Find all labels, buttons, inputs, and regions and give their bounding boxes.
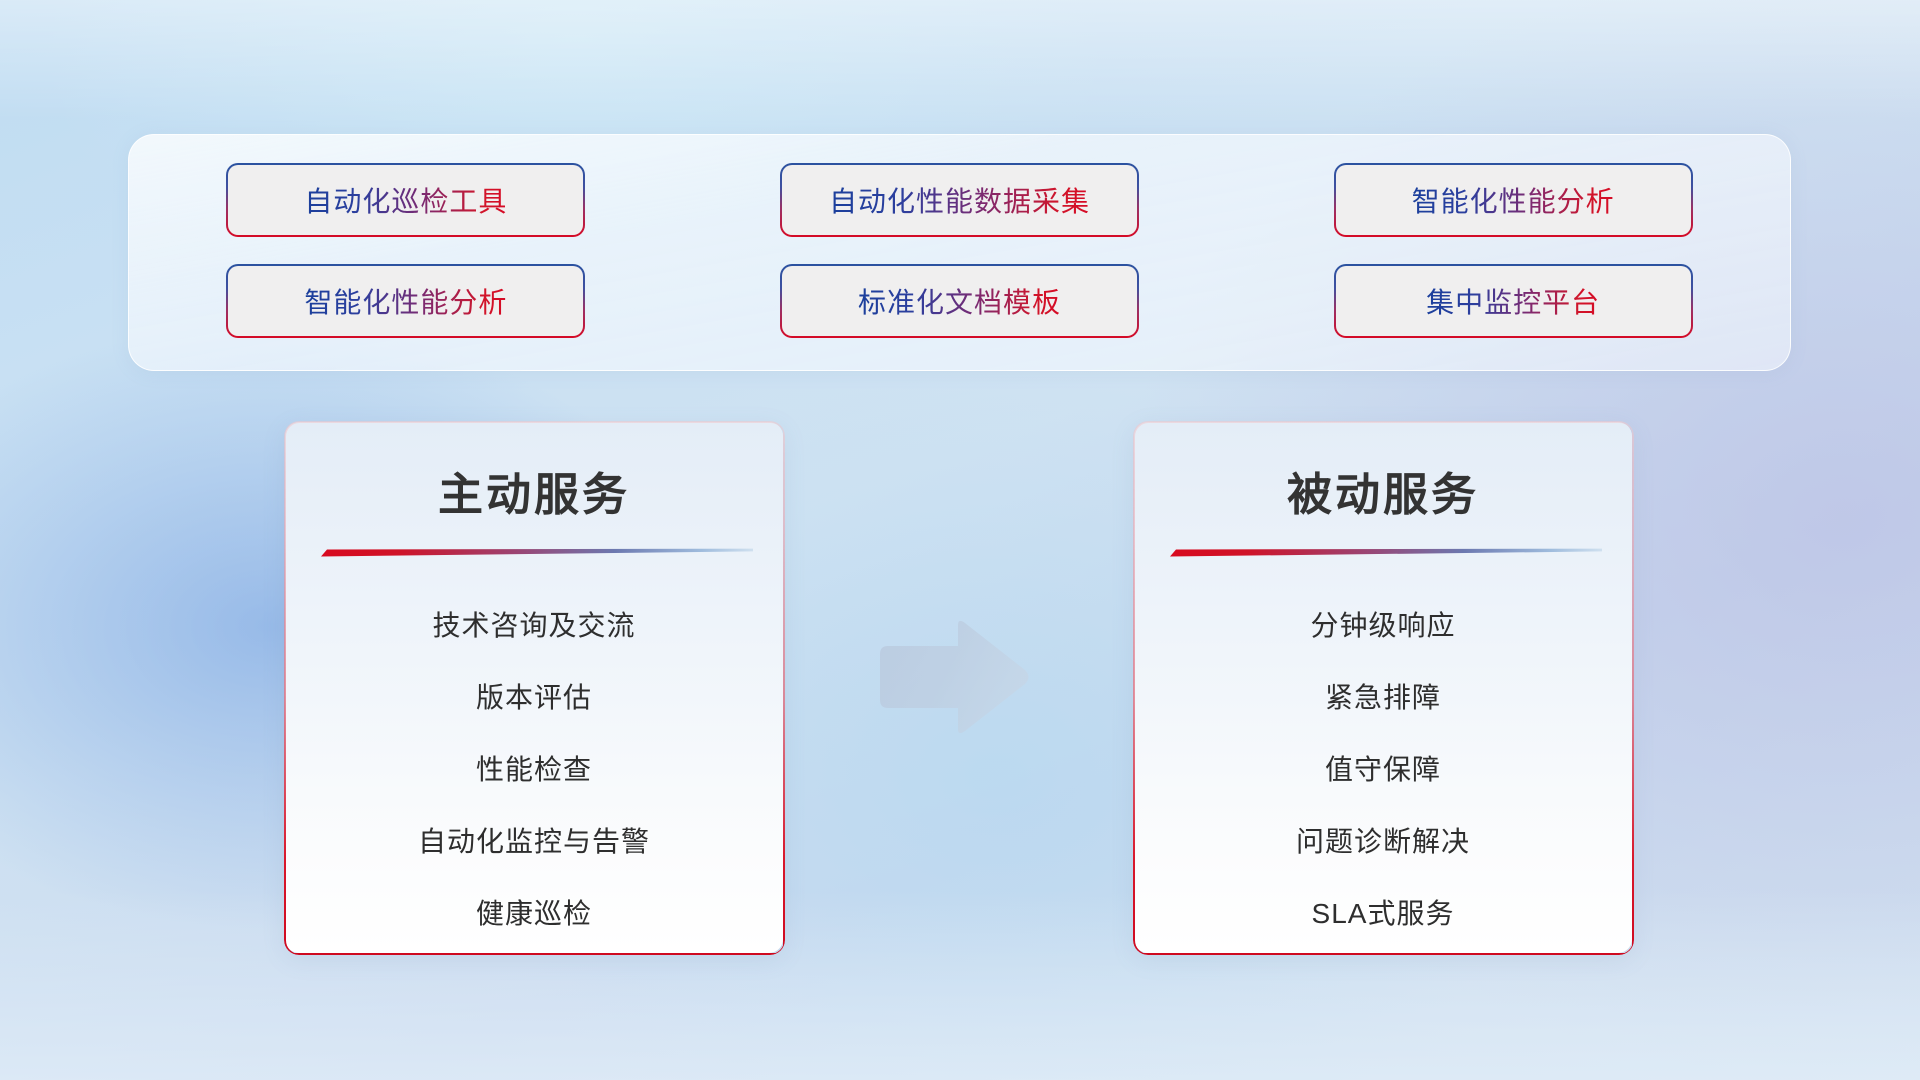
card-list-item: 健康巡检 [476,878,592,950]
tool-pill[interactable]: 自动化性能数据采集 [782,165,1137,235]
card-item-list: 分钟级响应 紧急排障 值守保障 问题诊断解决 SLA式服务 [1134,590,1632,950]
tool-pill-label: 标准化文档模板 [858,281,1061,321]
card-list-item: 性能检查 [476,734,592,806]
tool-pill[interactable]: 标准化文档模板 [782,266,1137,336]
tool-pill[interactable]: 智能化性能分析 [1336,165,1691,235]
capability-tools-panel: 自动化巡检工具 自动化性能数据采集 智能化性能分析 智能化性能分析 标准化文档模… [128,134,1791,371]
service-card-active: 主动服务 技术咨询及交流 版本评估 性能检查 自动化监控与告警 健康巡检 [285,422,783,953]
card-list-item: SLA式服务 [1312,878,1455,950]
card-title-divider [1170,544,1602,560]
card-list-item: 自动化监控与告警 [418,806,650,878]
tool-pill[interactable]: 自动化巡检工具 [228,165,583,235]
tool-pill-label: 自动化性能数据采集 [829,180,1090,220]
card-list-item: 版本评估 [476,662,592,734]
tool-pill[interactable]: 集中监控平台 [1336,266,1691,336]
card-list-item: 紧急排障 [1325,662,1441,734]
card-list-item: 技术咨询及交流 [432,590,635,662]
card-item-list: 技术咨询及交流 版本评估 性能检查 自动化监控与告警 健康巡检 [285,590,783,950]
service-card-passive: 被动服务 分钟级响应 紧急排障 值守保障 问题诊断解决 SLA式服务 [1134,422,1632,953]
tool-pill-label: 智能化性能分析 [1412,180,1615,220]
card-title-divider [321,544,753,560]
tool-pill-label: 集中监控平台 [1426,281,1600,321]
card-title: 被动服务 [1134,458,1632,523]
tool-pill[interactable]: 智能化性能分析 [228,266,583,336]
card-title: 主动服务 [285,458,783,523]
card-list-item: 值守保障 [1325,734,1441,806]
tool-pill-label: 自动化巡检工具 [304,180,507,220]
card-list-item: 问题诊断解决 [1296,806,1470,878]
card-list-item: 分钟级响应 [1310,590,1455,662]
tool-pill-label: 智能化性能分析 [304,281,507,321]
arrow-right-icon [872,618,1032,736]
